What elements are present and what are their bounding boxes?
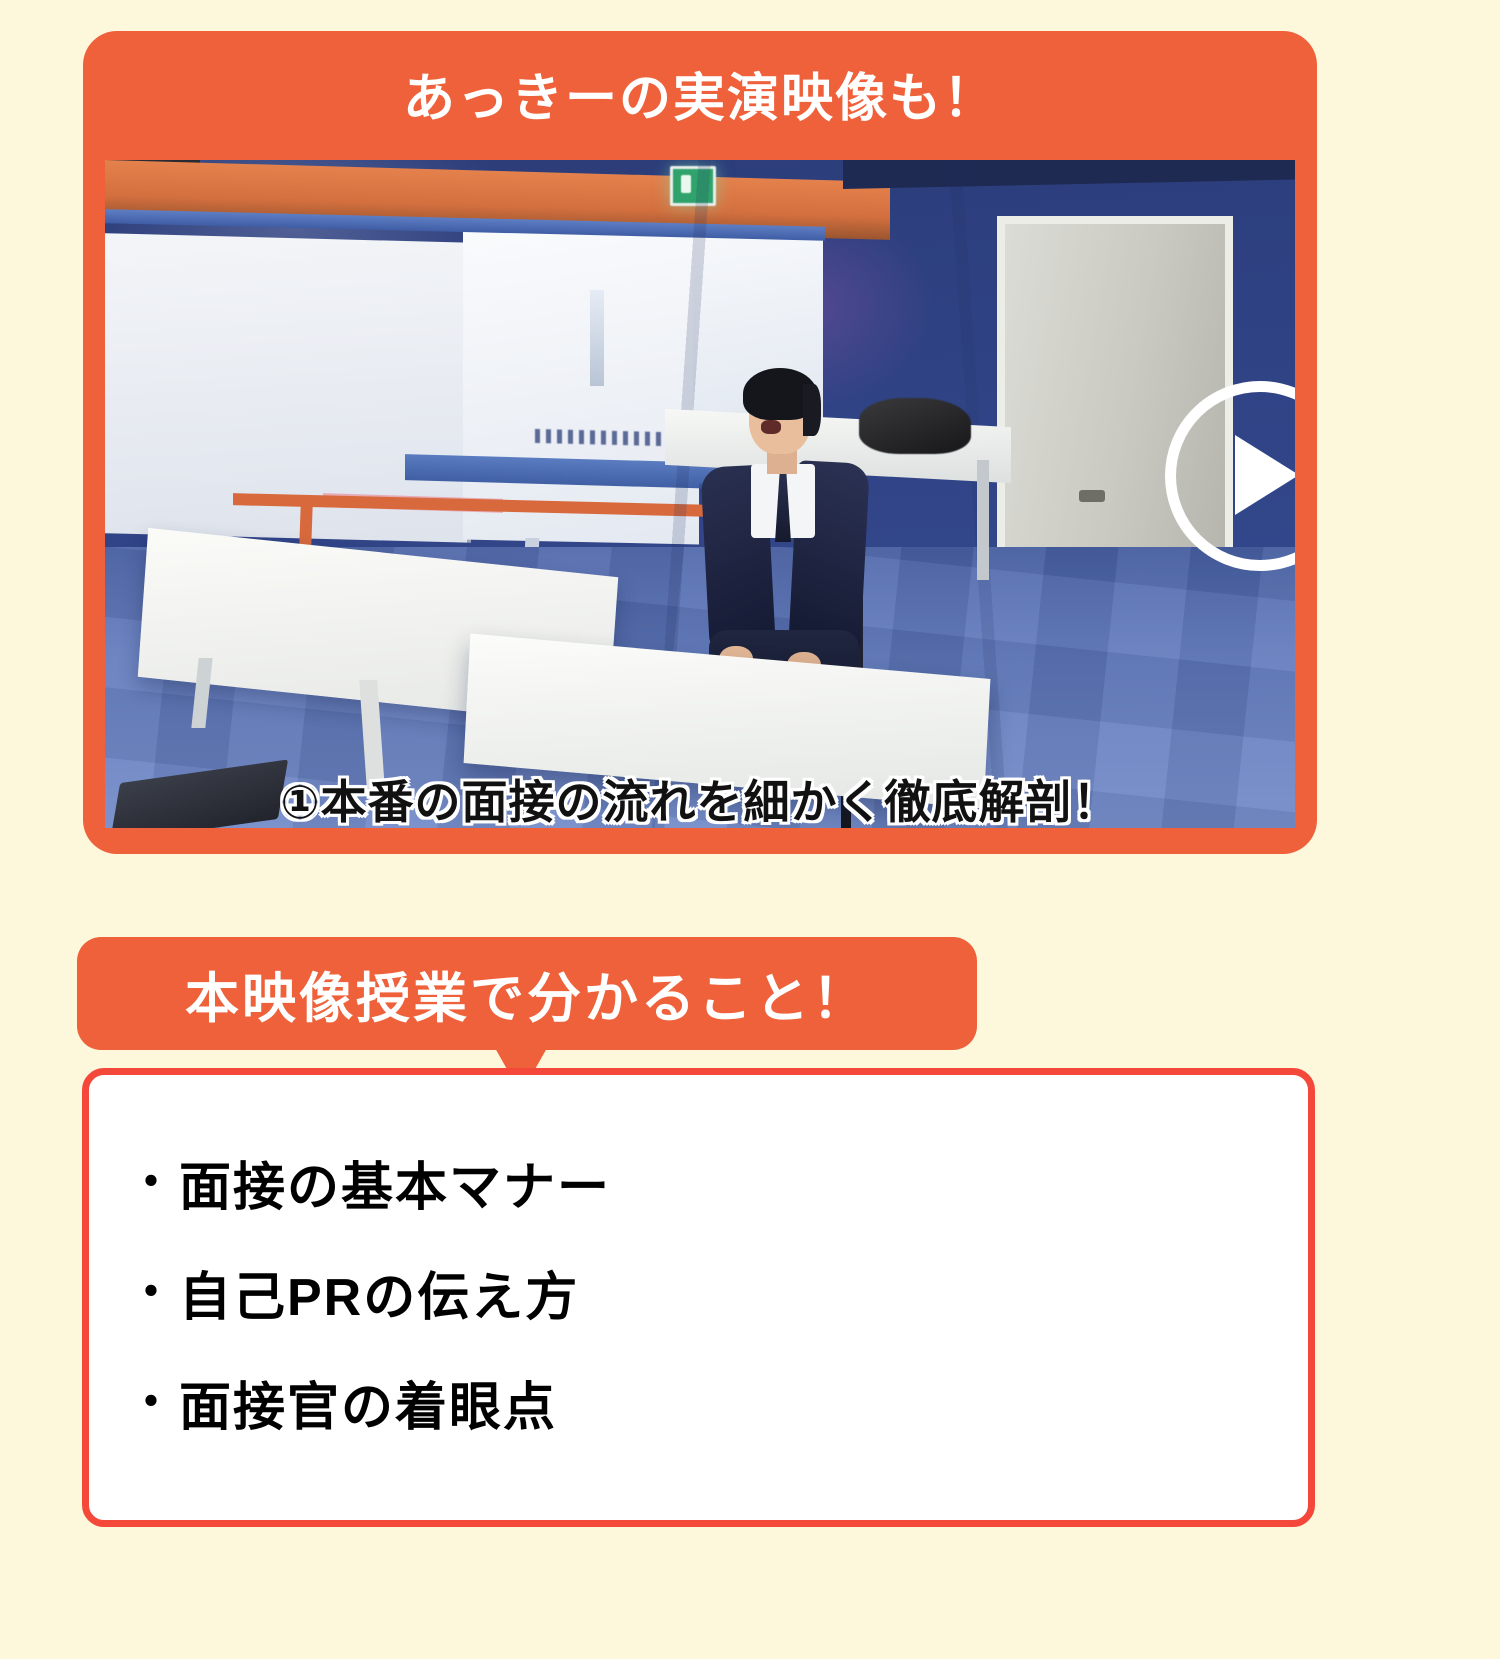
list-bullet-icon: ・ (125, 1269, 179, 1315)
list-item: ・ 面接官の着眼点 (125, 1347, 1308, 1457)
video-card-title: あっきーの実演映像も！ (83, 31, 1317, 156)
list-item-label: 面接官の着眼点 (179, 1365, 557, 1440)
list-item: ・ 面接の基本マナー (125, 1127, 1308, 1237)
video-scene: ①本番の面接の流れを細かく徹底解剖！ (105, 160, 1295, 828)
list-item-label: 自己PRの伝え方 (179, 1255, 579, 1330)
list-bullet-icon: ・ (125, 1159, 179, 1205)
video-card: あっきーの実演映像も！ (83, 31, 1317, 854)
person-mouth (761, 420, 781, 434)
benefits-list: ・ 面接の基本マナー ・ 自己PRの伝え方 ・ 面接官の着眼点 (82, 1068, 1315, 1527)
person-hair-side (803, 384, 821, 436)
callout-bubble-label: 本映像授業で分かること！ (185, 954, 869, 1033)
callout-bubble: 本映像授業で分かること！ (77, 937, 977, 1050)
play-icon-triangle (1235, 435, 1295, 515)
list-bullet-icon: ・ (125, 1379, 179, 1425)
play-icon[interactable] (1165, 381, 1295, 571)
list-item: ・ 自己PRの伝え方 (125, 1237, 1308, 1347)
scene-table-back-leg-2 (977, 460, 989, 580)
video-subtitle: ①本番の面接の流れを細かく徹底解剖！ (105, 766, 1295, 828)
video-thumbnail[interactable]: ①本番の面接の流れを細かく徹底解剖！ (105, 160, 1295, 828)
list-item-label: 面接の基本マナー (179, 1145, 611, 1220)
